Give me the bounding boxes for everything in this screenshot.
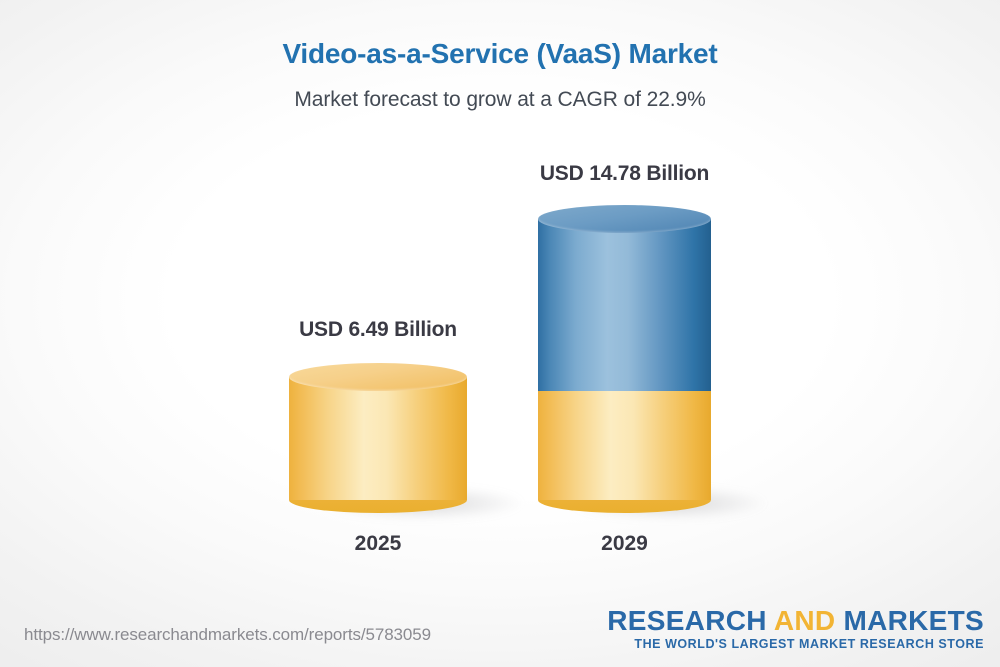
cylinder-upper-body-2029 xyxy=(538,219,711,391)
cylinder-top-cap-2029 xyxy=(538,205,711,233)
cylinder-body-2025 xyxy=(289,377,467,500)
cylinder-2025 xyxy=(289,363,467,513)
bar-2025[interactable]: USD 6.49 Billion 2025 xyxy=(289,160,467,560)
logo-word-markets: MARKETS xyxy=(835,605,984,636)
bar-category-label-2029: 2029 xyxy=(601,532,648,556)
bar-value-label-2029: USD 14.78 Billion xyxy=(540,162,709,186)
report-url[interactable]: https://www.researchandmarkets.com/repor… xyxy=(24,625,431,645)
bar-category-label-2025: 2025 xyxy=(355,532,402,556)
bar-2029[interactable]: USD 14.78 Billion 2029 xyxy=(538,160,711,560)
logo-word-research: RESEARCH xyxy=(607,605,774,636)
logo-wordmark: RESEARCH AND MARKETS xyxy=(607,606,984,635)
logo-tagline: THE WORLD'S LARGEST MARKET RESEARCH STOR… xyxy=(607,637,984,651)
cylinder-2029 xyxy=(538,205,711,513)
cylinder-top-cap-2025 xyxy=(289,363,467,391)
logo-word-and: AND xyxy=(774,605,836,636)
bar-value-label-2025: USD 6.49 Billion xyxy=(299,318,457,342)
plot-area: USD 6.49 Billion 2025 USD 14.78 Billion xyxy=(0,0,1000,667)
cylinder-lower-body-2029 xyxy=(538,377,711,500)
research-and-markets-logo[interactable]: RESEARCH AND MARKETS THE WORLD'S LARGEST… xyxy=(607,606,984,651)
chart-canvas: Video-as-a-Service (VaaS) Market Market … xyxy=(0,0,1000,667)
